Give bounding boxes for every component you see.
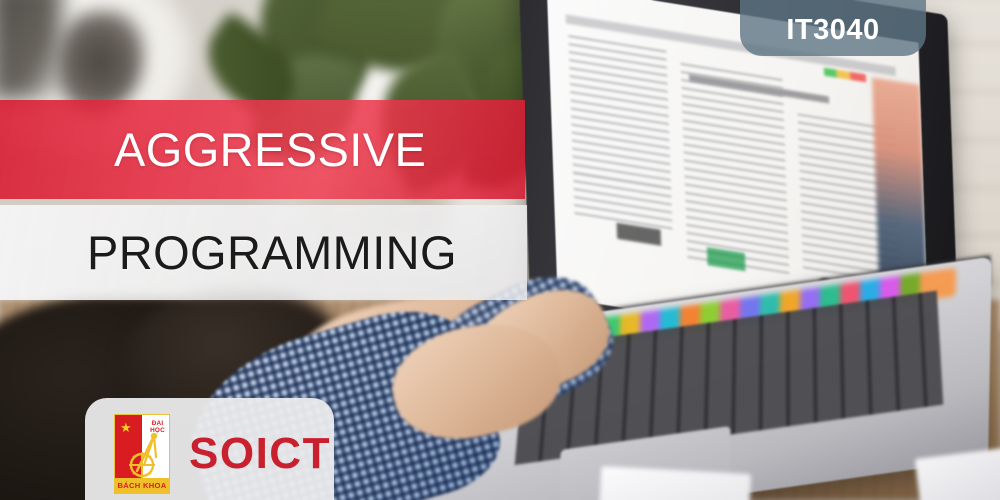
course-banner: AGGRESSIVE PROGRAMMING IT3040 ĐẠI HỌC xyxy=(0,0,1000,500)
emblem-bottom-banner: BÁCH KHOA xyxy=(115,478,169,493)
course-code-badge: IT3040 xyxy=(740,0,926,56)
title-text-programming: PROGRAMMING xyxy=(87,225,457,280)
title-band-programming: PROGRAMMING xyxy=(0,205,527,300)
screen-text-column xyxy=(568,35,672,232)
soict-wordmark: SOICT xyxy=(189,432,331,476)
title-text-aggressive: AGGRESSIVE xyxy=(114,122,426,177)
hust-emblem-icon: ĐẠI HỌC xyxy=(114,414,170,494)
screen-text-column xyxy=(681,63,790,276)
compass-tool-icon xyxy=(124,431,164,479)
cup-dark-edge xyxy=(0,0,62,100)
soict-logo-panel: ĐẠI HỌC xyxy=(85,398,334,500)
title-band-aggressive: AGGRESSIVE xyxy=(0,100,525,199)
course-code-label: IT3040 xyxy=(786,14,879,47)
emblem-bottom-text: BÁCH KHOA xyxy=(117,481,166,490)
